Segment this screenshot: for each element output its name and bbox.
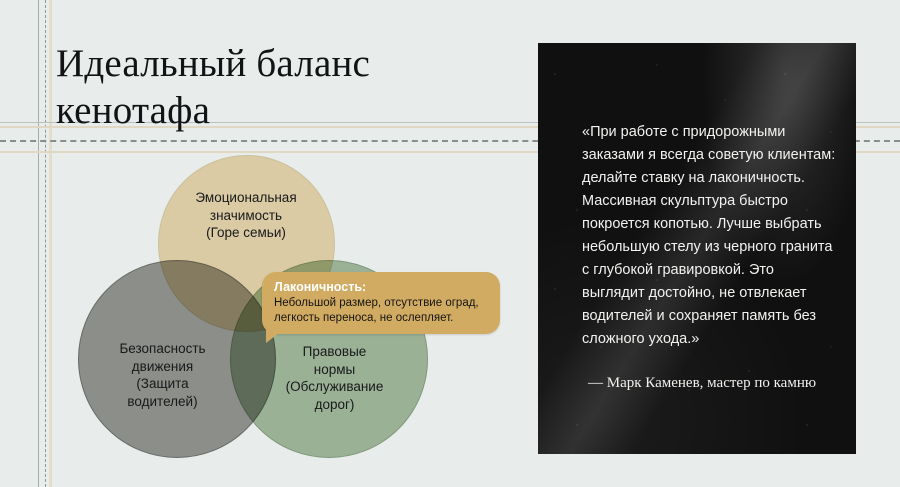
callout-body: Небольшой размер, отсутствие оград, легк… xyxy=(274,296,488,325)
vertical-road-dashed-line xyxy=(45,0,46,487)
page-title: Идеальный баланс кенотафа xyxy=(56,40,486,134)
venn-label-emotional: Эмоциональная значимость (Горе семьи) xyxy=(166,189,326,242)
slide-canvas: Идеальный баланс кенотафа Эмоциональная … xyxy=(0,0,900,487)
quote-author: — Марк Каменев, мастер по камню xyxy=(588,373,853,393)
quote-text: «При работе с придорожными заказами я вс… xyxy=(582,121,840,351)
venn-label-legal: Правовые нормы (Обслуживание дорог) xyxy=(252,343,417,413)
callout-bubble: Лаконичность: Небольшой размер, отсутств… xyxy=(262,272,500,334)
vertical-road-edge-line xyxy=(38,0,39,487)
vertical-road-cream-band xyxy=(49,0,52,487)
venn-label-safety: Безопасность движения (Защита водителей) xyxy=(80,340,245,410)
quote-panel: «При работе с придорожными заказами я вс… xyxy=(538,43,856,454)
callout-title: Лаконичность: xyxy=(274,280,488,295)
